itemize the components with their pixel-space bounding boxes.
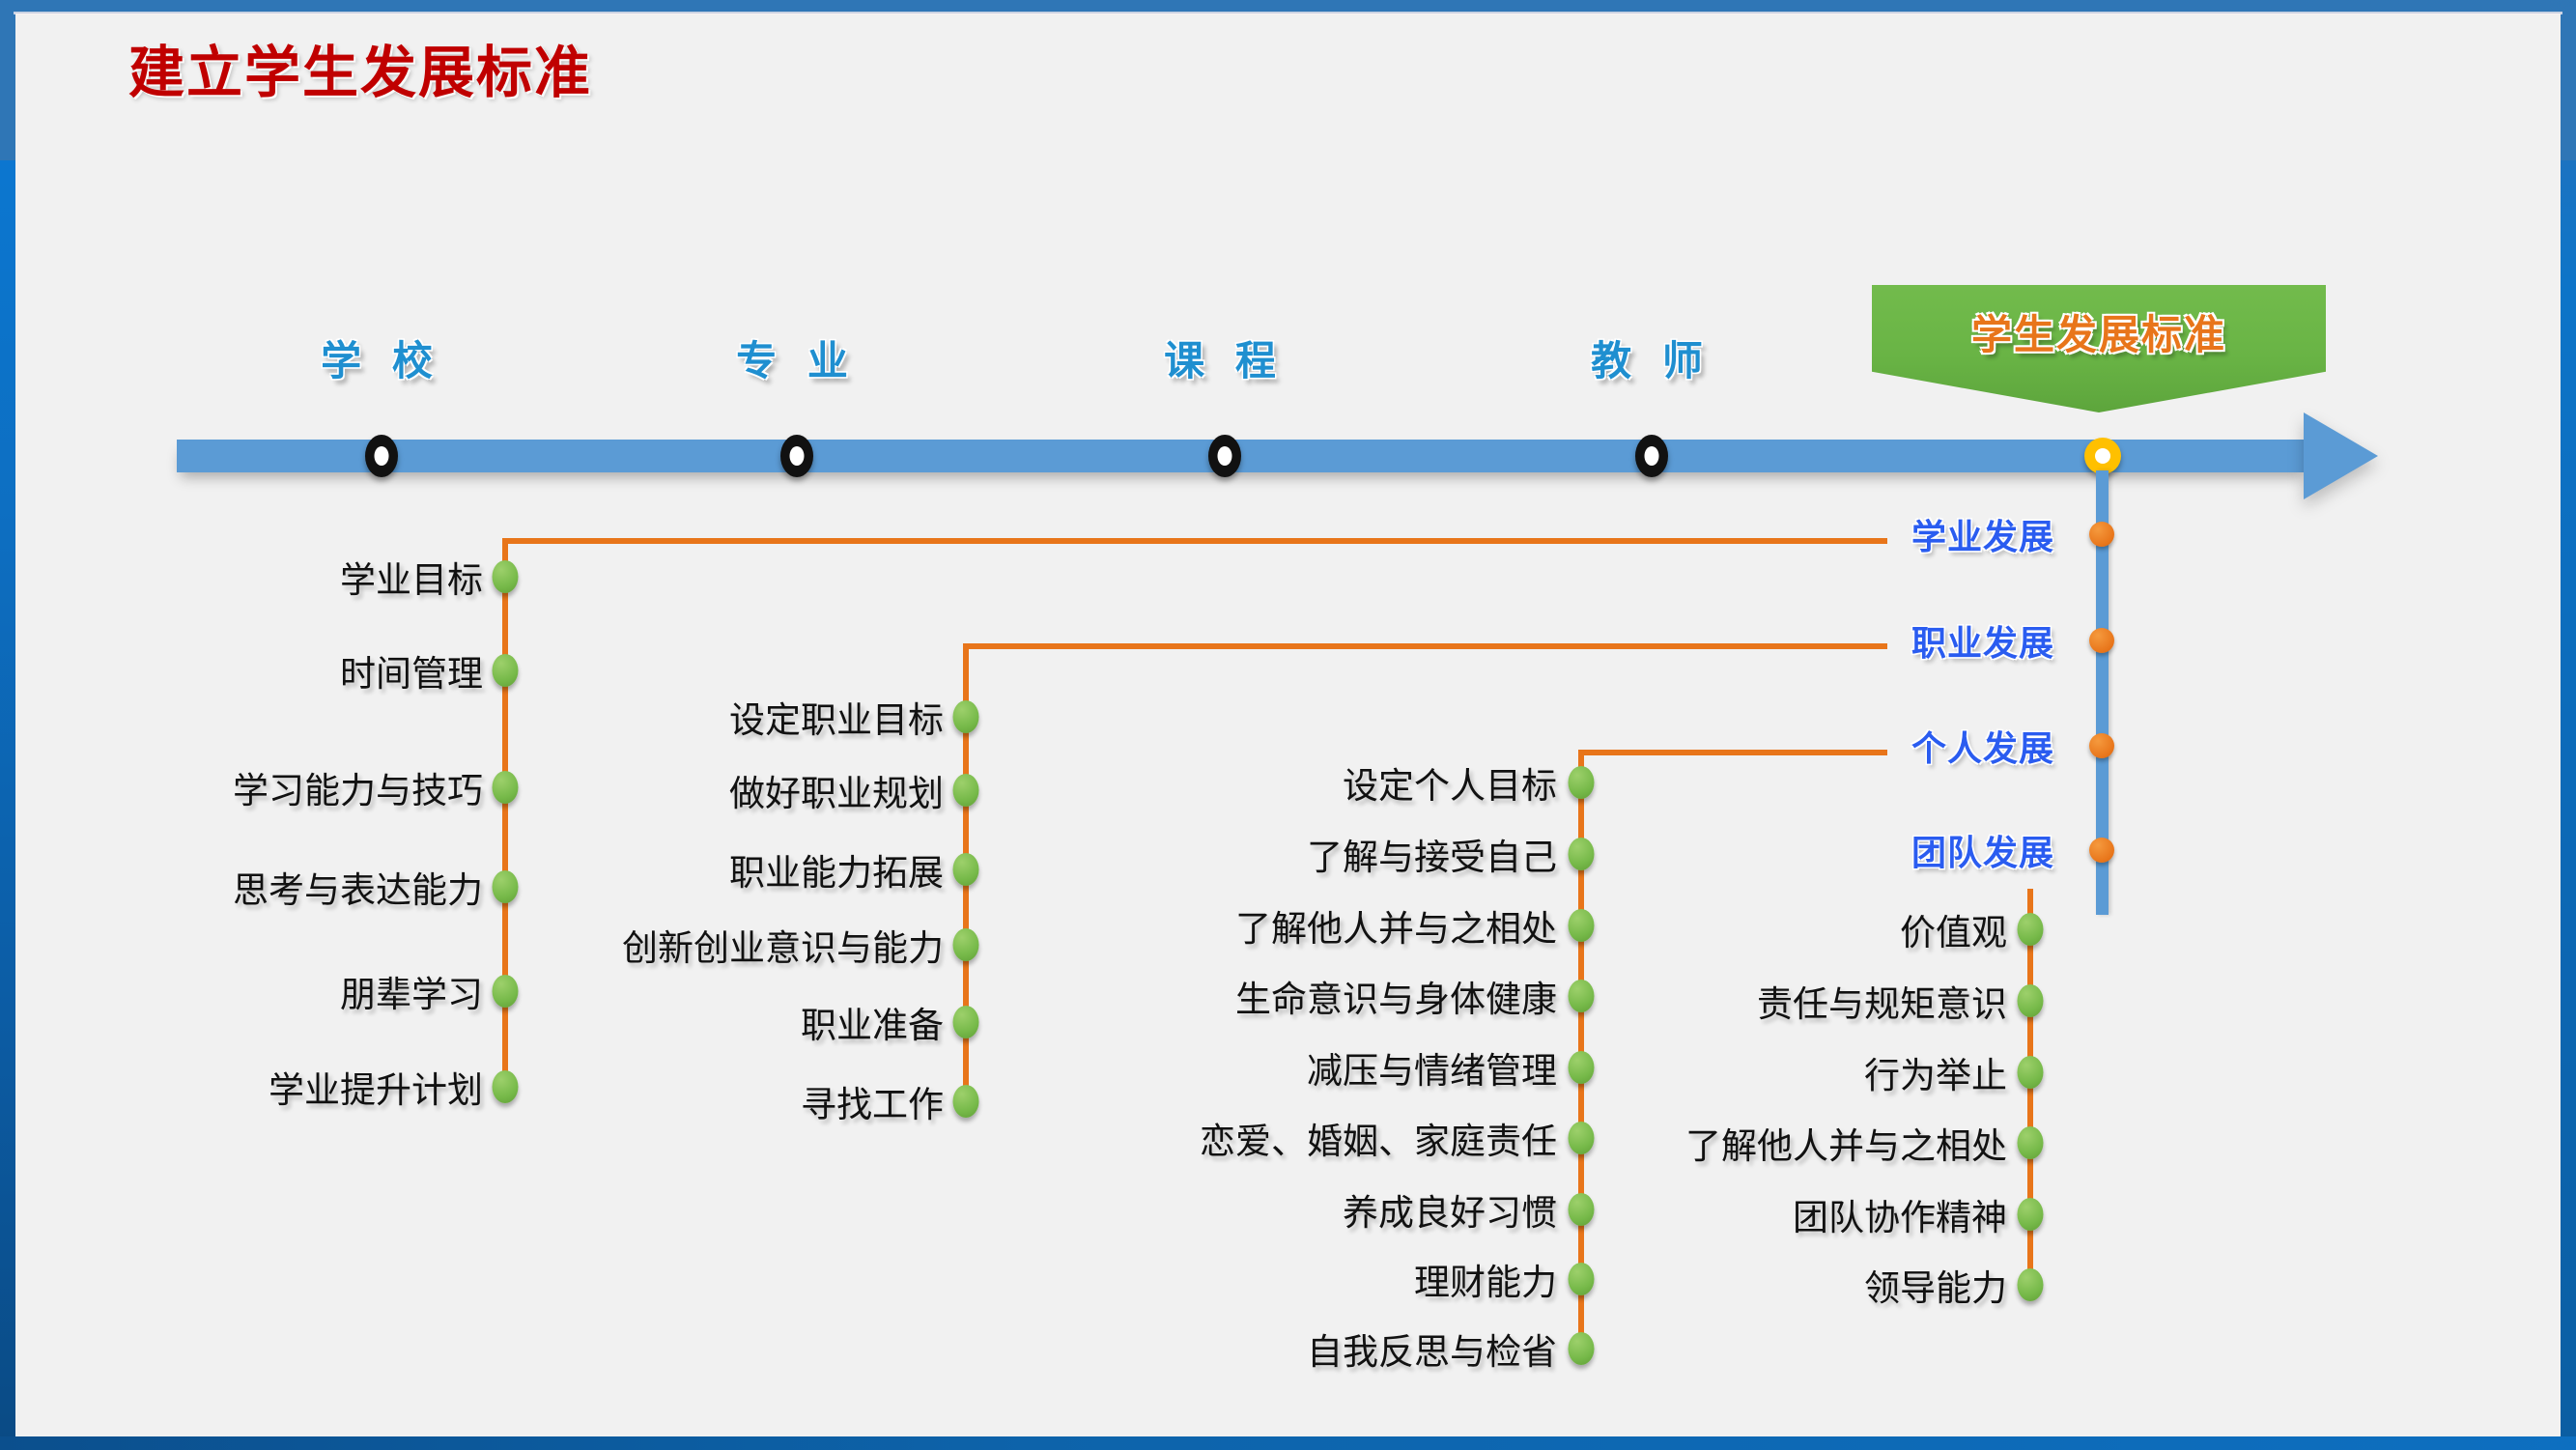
item-label: 学习能力与技巧 bbox=[233, 761, 483, 813]
item-node-icon[interactable] bbox=[493, 771, 519, 804]
milestone-node-icon bbox=[2084, 438, 2121, 474]
item-node-icon[interactable] bbox=[1569, 838, 1595, 870]
frame-left-border bbox=[0, 0, 15, 1450]
item-node-icon[interactable] bbox=[493, 975, 519, 1008]
category-label-3[interactable]: 个人发展 bbox=[1911, 721, 2054, 771]
slide-background bbox=[15, 14, 2561, 1436]
item-node-icon[interactable] bbox=[1569, 1193, 1595, 1226]
item-node-icon[interactable] bbox=[1569, 980, 1595, 1012]
page-title: 建立学生发展标准 bbox=[128, 27, 592, 108]
arrow-right-icon bbox=[2304, 412, 2378, 499]
item-label: 理财能力 bbox=[1414, 1253, 1557, 1305]
item-node-icon[interactable] bbox=[953, 1006, 979, 1038]
item-node-icon[interactable] bbox=[2018, 1198, 2044, 1231]
item-label: 价值观 bbox=[1900, 903, 2007, 955]
category-label-4[interactable]: 团队发展 bbox=[1911, 825, 2054, 875]
item-label: 朋辈学习 bbox=[340, 965, 483, 1017]
item-label: 团队协作精神 bbox=[1793, 1188, 2007, 1240]
category-node-icon-1[interactable] bbox=[2089, 522, 2114, 547]
frame-inner-highlight bbox=[14, 12, 2562, 14]
item-node-icon[interactable] bbox=[1569, 1263, 1595, 1295]
item-node-icon[interactable] bbox=[493, 870, 519, 903]
timeline-label-4: 教 师 bbox=[1591, 328, 1713, 387]
item-label: 了解他人并与之相处 bbox=[1685, 1117, 2007, 1169]
item-node-icon[interactable] bbox=[1569, 1051, 1595, 1084]
item-label: 职业能力拓展 bbox=[729, 843, 944, 896]
item-label: 了解与接受自己 bbox=[1307, 828, 1557, 880]
frame-bottom-border bbox=[0, 1436, 2576, 1450]
item-node-icon[interactable] bbox=[953, 1085, 979, 1118]
item-label: 养成良好习惯 bbox=[1343, 1183, 1557, 1236]
item-node-icon[interactable] bbox=[2018, 913, 2044, 946]
item-label: 自我反思与检省 bbox=[1307, 1322, 1557, 1375]
item-node-icon[interactable] bbox=[1569, 909, 1595, 942]
timeline-node-1[interactable] bbox=[365, 435, 398, 477]
item-node-icon[interactable] bbox=[1569, 1122, 1595, 1154]
item-node-icon[interactable] bbox=[953, 774, 979, 807]
item-label: 设定职业目标 bbox=[729, 691, 944, 743]
item-label: 思考与表达能力 bbox=[233, 861, 483, 913]
item-node-icon[interactable] bbox=[1569, 766, 1595, 799]
item-label: 了解他人并与之相处 bbox=[1235, 899, 1557, 952]
category-label-2[interactable]: 职业发展 bbox=[1911, 615, 2054, 666]
item-node-icon[interactable] bbox=[1569, 1332, 1595, 1365]
item-label: 学业目标 bbox=[340, 551, 483, 603]
item-label: 责任与规矩意识 bbox=[1757, 975, 2007, 1027]
timeline-node-2[interactable] bbox=[780, 435, 813, 477]
timeline-bar bbox=[177, 440, 2307, 472]
timeline-label-2: 专 业 bbox=[736, 328, 858, 387]
item-label: 寻找工作 bbox=[801, 1075, 944, 1127]
item-label: 生命意识与身体健康 bbox=[1235, 970, 1557, 1022]
item-node-icon[interactable] bbox=[2018, 1268, 2044, 1301]
item-node-icon[interactable] bbox=[493, 560, 519, 593]
item-label: 领导能力 bbox=[1864, 1259, 2007, 1311]
item-node-icon[interactable] bbox=[953, 928, 979, 961]
timeline-label-1: 学 校 bbox=[321, 328, 442, 387]
item-node-icon[interactable] bbox=[493, 1070, 519, 1103]
item-node-icon[interactable] bbox=[493, 654, 519, 687]
timeline-label-3: 课 程 bbox=[1164, 328, 1286, 387]
item-label: 减压与情绪管理 bbox=[1307, 1041, 1557, 1094]
item-label: 恋爱、婚姻、家庭责任 bbox=[1200, 1112, 1557, 1164]
item-label: 做好职业规划 bbox=[729, 764, 944, 816]
frame-right-border bbox=[2561, 0, 2576, 1450]
item-label: 时间管理 bbox=[340, 644, 483, 697]
category-node-icon-4[interactable] bbox=[2089, 838, 2114, 863]
student-standard-banner-label: 学生发展标准 bbox=[1872, 302, 2326, 361]
category-label-1[interactable]: 学业发展 bbox=[1911, 509, 2054, 559]
item-node-icon[interactable] bbox=[2018, 1126, 2044, 1159]
connector-elbow-career bbox=[963, 643, 1887, 649]
item-label: 学业提升计划 bbox=[269, 1061, 483, 1113]
item-label: 创新创业意识与能力 bbox=[622, 919, 944, 971]
item-node-icon[interactable] bbox=[2018, 984, 2044, 1017]
timeline-node-3[interactable] bbox=[1208, 435, 1241, 477]
item-label: 职业准备 bbox=[801, 996, 944, 1048]
slide-canvas: 建立学生发展标准 学 校专 业课 程教 师 学生发展标准 学业发展职业发展个人发… bbox=[0, 0, 2576, 1450]
connector-elbow-academic bbox=[502, 538, 1887, 544]
timeline-node-4[interactable] bbox=[1635, 435, 1668, 477]
category-node-icon-3[interactable] bbox=[2089, 733, 2114, 758]
frame-top-border bbox=[0, 0, 2576, 14]
frame-top-left-accent bbox=[0, 0, 15, 160]
item-label: 设定个人目标 bbox=[1343, 756, 1557, 809]
item-node-icon[interactable] bbox=[953, 700, 979, 733]
connector-elbow-personal bbox=[1578, 750, 1887, 755]
item-node-icon[interactable] bbox=[2018, 1056, 2044, 1089]
item-node-icon[interactable] bbox=[953, 853, 979, 886]
frame-top-right-accent bbox=[2561, 0, 2576, 160]
item-label: 行为举止 bbox=[1864, 1046, 2007, 1098]
category-node-icon-2[interactable] bbox=[2089, 628, 2114, 653]
